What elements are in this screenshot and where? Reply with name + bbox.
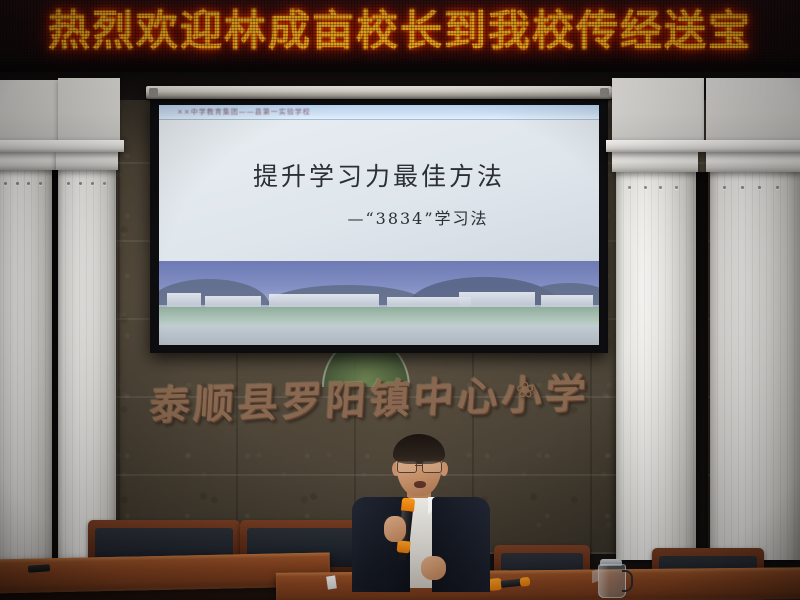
roller-cap-right-icon [600, 88, 609, 97]
column-flutes [0, 170, 52, 560]
microphone-body [501, 579, 522, 588]
column-left-2 [58, 170, 116, 562]
column-stud-dots-right-2 [716, 186, 786, 189]
column-stud-dots-right-1 [622, 186, 684, 189]
column-capital-right-1 [612, 152, 698, 172]
slide-footer-band [159, 325, 599, 345]
upper-panel-right-b [706, 78, 800, 142]
column-left-1 [0, 170, 52, 560]
led-banner-text: 热烈欢迎林成亩校长到我校传经送宝 [24, 8, 776, 54]
upper-panel-left-a [0, 80, 66, 142]
projection-screen: ××中学教育集团——县第一实验学校 提升学习力最佳方法 —“3834”学习法 [150, 98, 608, 353]
photo-ground [159, 307, 599, 325]
column-capital-left-2 [56, 150, 118, 170]
projected-slide: ××中学教育集团——县第一实验学校 提升学习力最佳方法 —“3834”学习法 [159, 105, 599, 345]
upper-panel-left-b [58, 78, 120, 142]
upper-panel-right-a [612, 78, 704, 142]
photo-building-1 [167, 293, 201, 307]
speaker-hand-right [421, 556, 446, 580]
glass-teapot-icon[interactable] [595, 556, 629, 596]
column-gap-right [694, 172, 708, 560]
column-stud-dots-left-2 [62, 182, 110, 185]
name-card [326, 575, 337, 589]
teapot-spout [592, 569, 599, 584]
glasses-lens-left [397, 461, 417, 473]
column-capital-left-1 [0, 152, 56, 170]
slide-campus-photo [159, 261, 599, 325]
cornice-right [606, 140, 800, 152]
column-right-1 [616, 172, 696, 560]
speaker-hand-left [384, 516, 406, 542]
wall-school-name: 泰顺县罗阳镇中心小学 [148, 362, 551, 431]
projector-screen-roller[interactable] [146, 86, 612, 99]
teapot-handle [622, 570, 633, 592]
slide-subtitle: —“3834”学习法 [159, 205, 599, 229]
photo-building-3 [269, 294, 379, 307]
photo-building-6 [541, 295, 593, 307]
glasses-icon [396, 461, 442, 471]
slide-header-bar: ××中学教育集团——县第一实验学校 [159, 105, 599, 120]
speaker-mouth [414, 481, 426, 488]
wall-ornament-icon: ❀ [516, 378, 543, 405]
photo-building-2 [205, 296, 261, 307]
photo-building-5 [459, 292, 535, 307]
column-flutes [710, 172, 800, 560]
conference-room-scene: 泰顺县罗阳镇中心小学 ❀ ××中学教育集团——县第一实验学校 提升学习力最佳方法… [0, 0, 800, 600]
column-flutes [616, 172, 696, 560]
column-capital-right-2 [706, 152, 800, 172]
column-flutes [58, 170, 116, 562]
roller-cap-left-icon [149, 88, 158, 97]
slide-header-text: ××中学教育集团——县第一实验学校 [159, 107, 311, 117]
microphone-head [401, 497, 415, 511]
cornice-left [0, 140, 124, 152]
column-stud-dots-left-1 [0, 182, 46, 185]
column-right-2 [710, 172, 800, 560]
glasses-lens-right [422, 461, 442, 473]
microphone-tail [399, 553, 407, 561]
slide-title: 提升学习力最佳方法 [159, 157, 599, 193]
microphone-tail [520, 577, 531, 587]
led-welcome-banner: 热烈欢迎林成亩校长到我校传经送宝 [0, 0, 800, 72]
